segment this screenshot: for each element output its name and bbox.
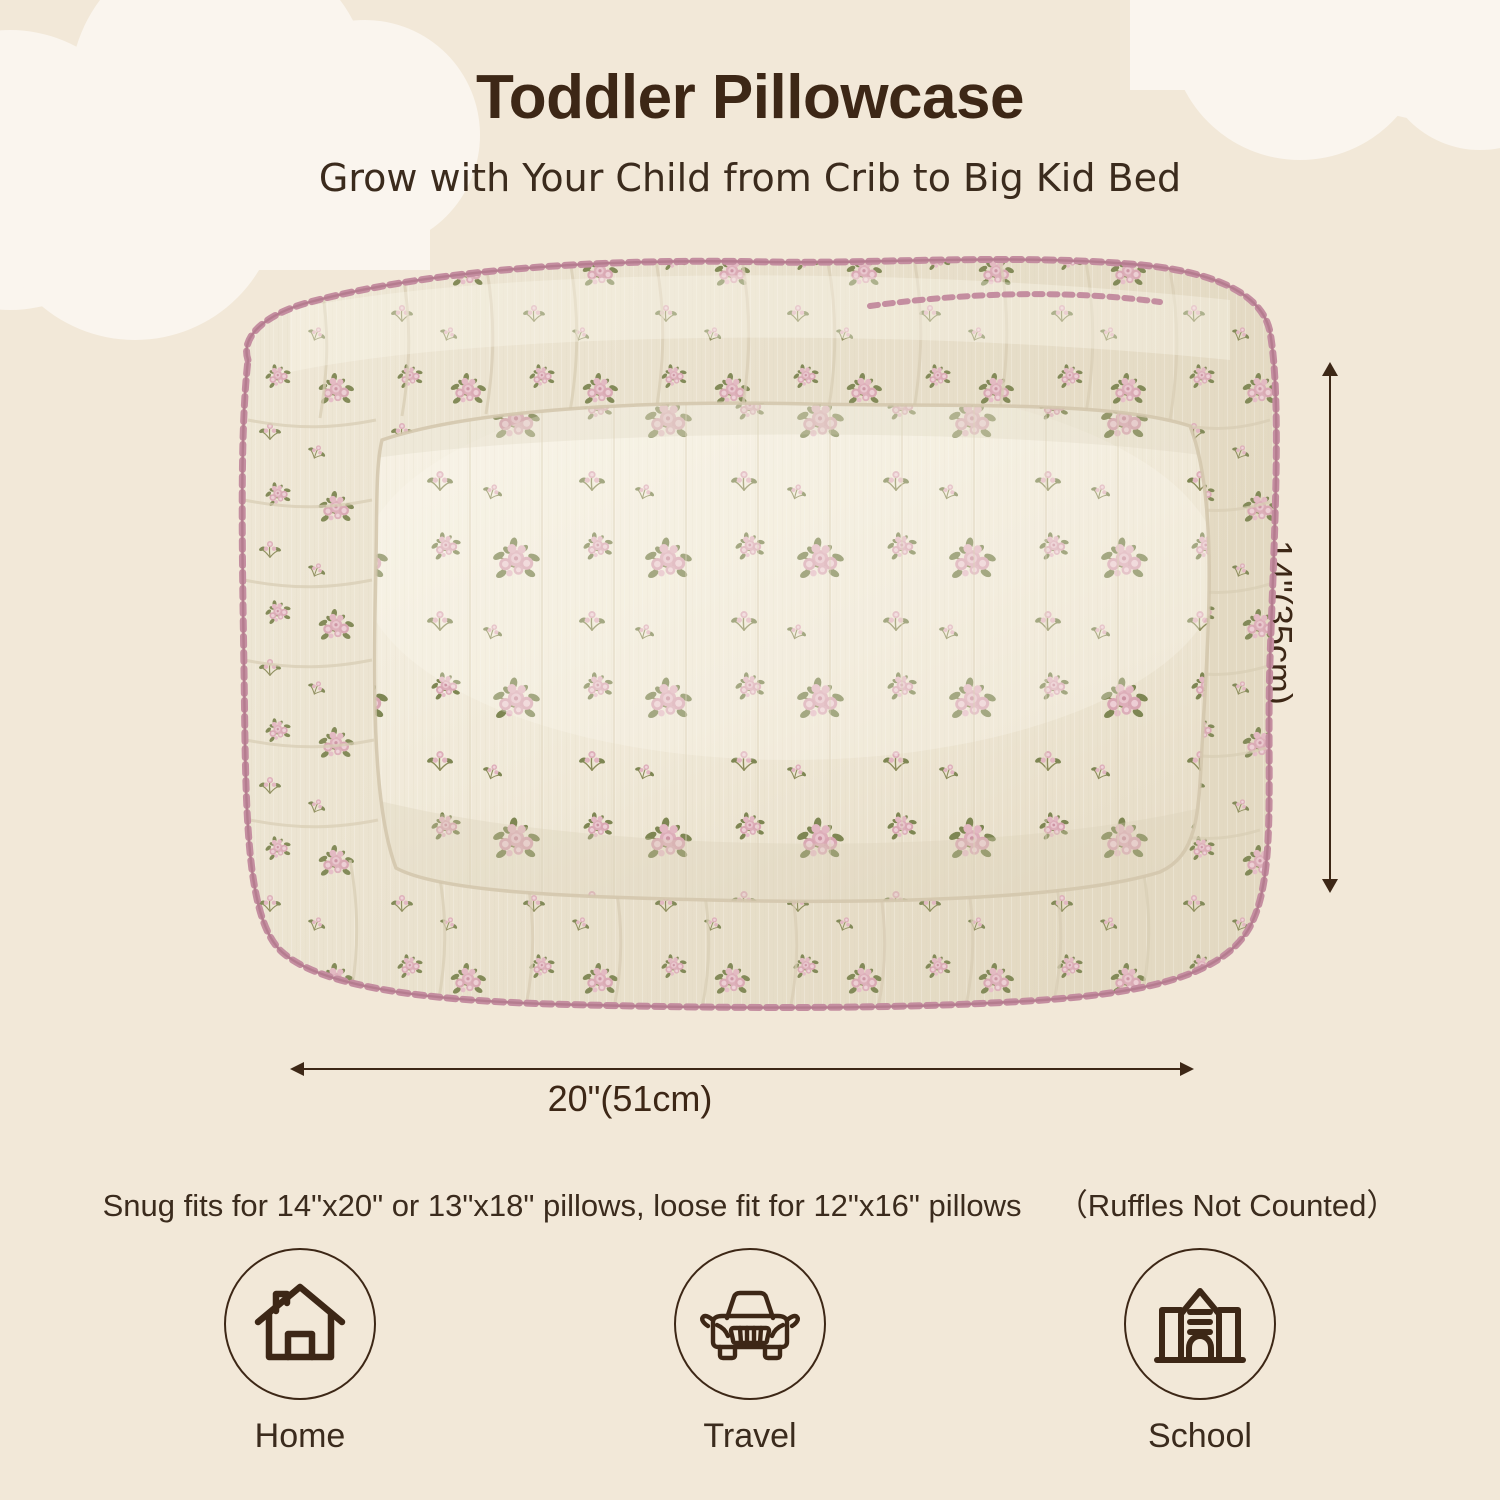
usecase-label-travel: Travel [703, 1417, 796, 1456]
usecase-travel: Travel [600, 1248, 900, 1488]
product-image-pillowcase [170, 240, 1305, 1030]
page-title: Toddler Pillowcase [0, 62, 1500, 133]
usecase-circle-travel [674, 1248, 826, 1400]
dimension-label-width: 20"(51cm) [0, 1078, 1500, 1120]
page-subtitle: Grow with Your Child from Crib to Big Ki… [0, 156, 1500, 200]
usecase-row: Home [150, 1248, 1350, 1488]
dimension-arrow-down [1322, 879, 1338, 893]
usecase-circle-school [1124, 1248, 1276, 1400]
usecase-label-school: School [1148, 1417, 1252, 1456]
dimension-line-width [300, 1068, 1180, 1070]
house-icon [248, 1272, 352, 1376]
infographic-canvas: Toddler Pillowcase Grow with Your Child … [0, 0, 1500, 1500]
dimension-arrow-up [1322, 362, 1338, 376]
fit-note: Snug fits for 14"x20" or 13"x18" pillows… [0, 1180, 1500, 1225]
usecase-circle-home [224, 1248, 376, 1400]
school-icon [1148, 1272, 1252, 1376]
dimension-arrow-left [290, 1062, 304, 1076]
usecase-label-home: Home [255, 1417, 346, 1456]
dimension-arrow-right [1180, 1062, 1194, 1076]
usecase-school: School [1050, 1248, 1350, 1488]
car-icon [696, 1270, 804, 1378]
fit-note-parenthetical: （Ruffles Not Counted） [1057, 1188, 1398, 1223]
fit-note-main: Snug fits for 14"x20" or 13"x18" pillows… [103, 1188, 1022, 1223]
dimension-line-height [1329, 372, 1331, 886]
usecase-home: Home [150, 1248, 450, 1488]
